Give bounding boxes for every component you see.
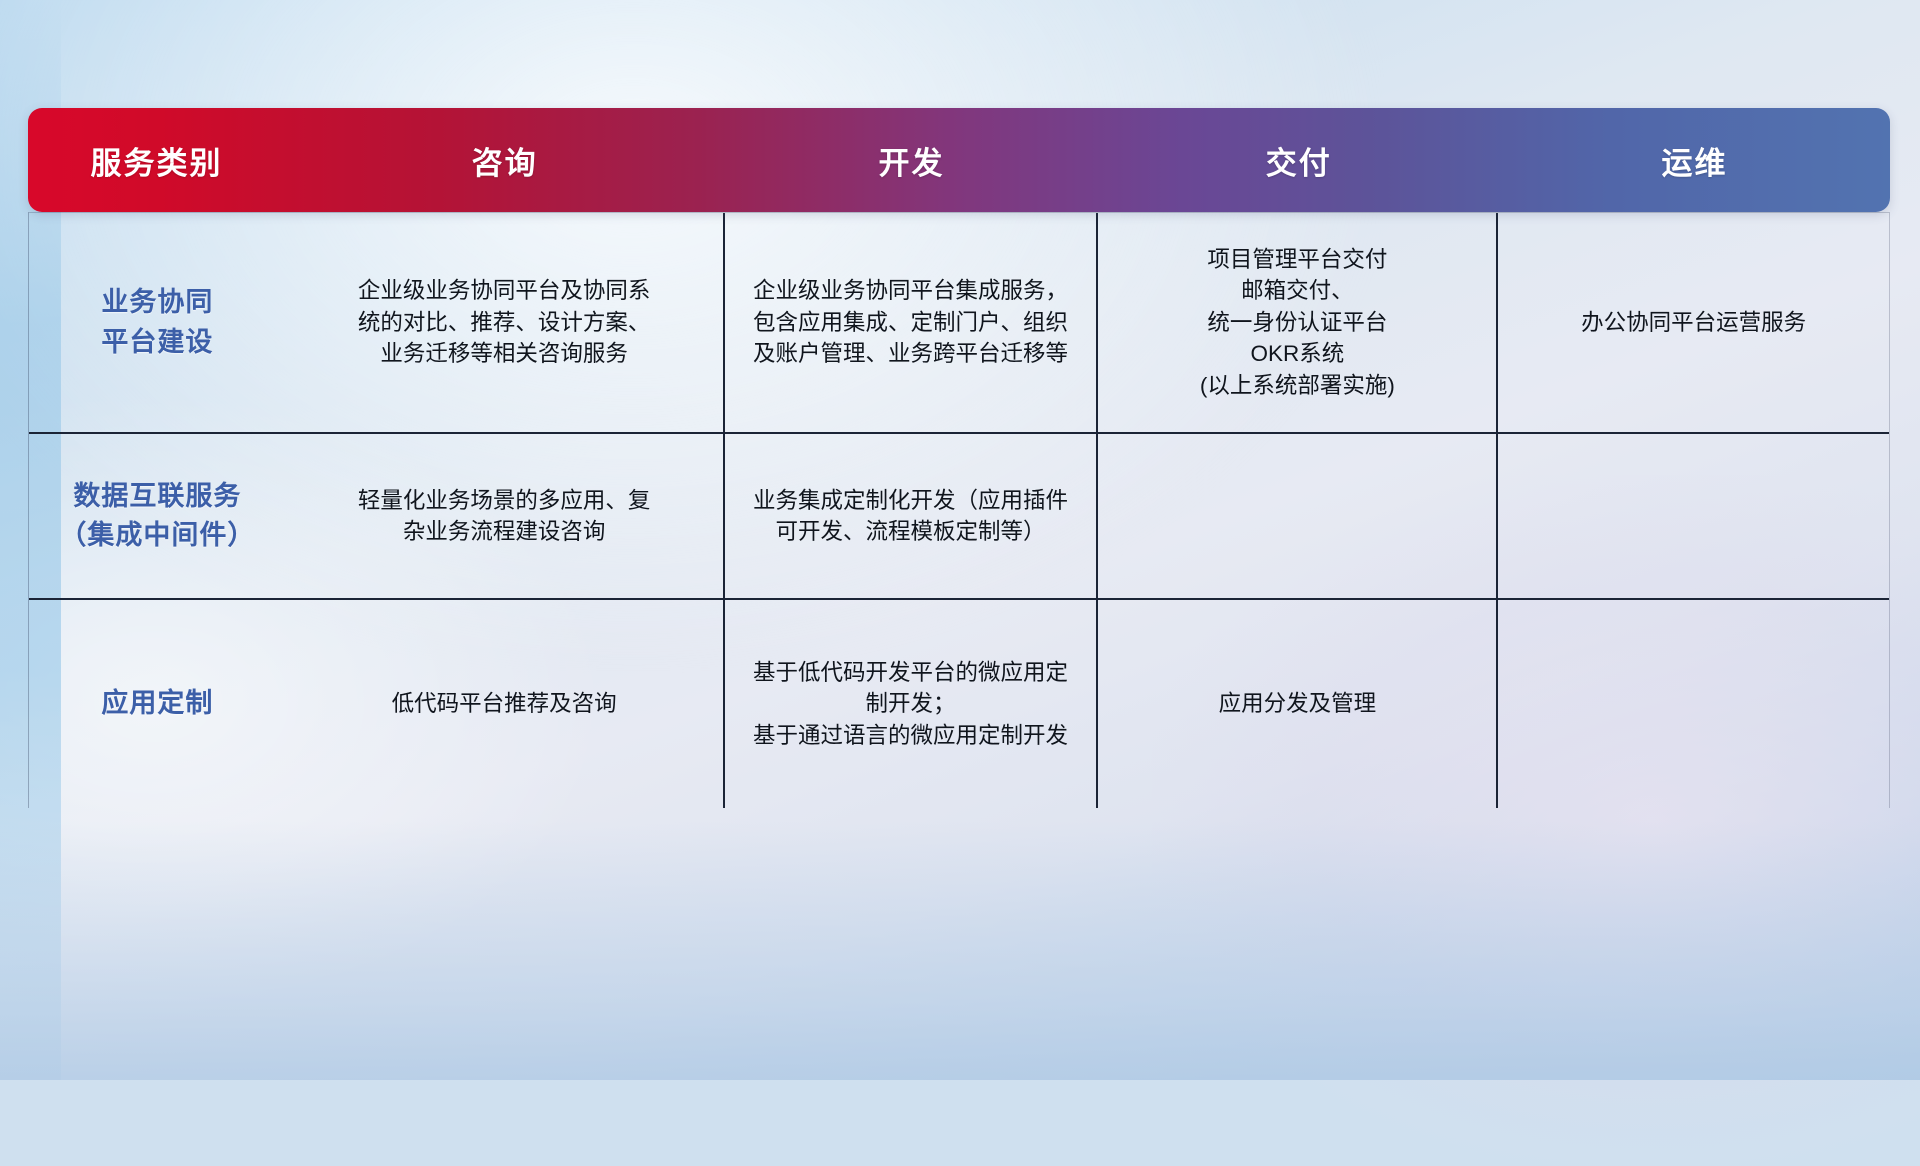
- table-body: 业务协同 平台建设 企业级业务协同平台及协同系 统的对比、推荐、设计方案、 业务…: [28, 212, 1890, 808]
- service-matrix-table: 服务类别 咨询 开发 交付 运维 业务协同 平台建设 企业级业务协同平台及协同系…: [28, 108, 1890, 808]
- cell-consulting: 低代码平台推荐及咨询: [286, 600, 725, 808]
- row-label: 业务协同 平台建设: [29, 213, 286, 432]
- cell-development: 基于低代码开发平台的微应用定 制开发； 基于通过语言的微应用定制开发: [725, 600, 1099, 808]
- cell-delivery: [1098, 434, 1498, 598]
- header-development: 开发: [724, 108, 1098, 212]
- cell-development: 企业级业务协同平台集成服务， 包含应用集成、定制门户、组织 及账户管理、业务跨平…: [725, 213, 1099, 432]
- cell-consulting: 企业级业务协同平台及协同系 统的对比、推荐、设计方案、 业务迁移等相关咨询服务: [286, 213, 725, 432]
- header-delivery: 交付: [1099, 108, 1499, 212]
- cell-development: 业务集成定制化开发（应用插件 可开发、流程模板定制等）: [725, 434, 1099, 598]
- cell-delivery: 项目管理平台交付 邮箱交付、 统一身份认证平台 OKR系统 (以上系统部署实施): [1098, 213, 1498, 432]
- background-bottom-tint: [0, 821, 1920, 1080]
- row-label: 数据互联服务 （集成中间件）: [29, 434, 286, 598]
- cell-delivery: 应用分发及管理: [1098, 600, 1498, 808]
- table-row: 业务协同 平台建设 企业级业务协同平台及协同系 统的对比、推荐、设计方案、 业务…: [29, 212, 1889, 434]
- cell-consulting: 轻量化业务场景的多应用、复 杂业务流程建设咨询: [286, 434, 725, 598]
- header-service-category: 服务类别: [28, 108, 285, 212]
- table-row: 数据互联服务 （集成中间件） 轻量化业务场景的多应用、复 杂业务流程建设咨询 业…: [29, 434, 1889, 600]
- table-row: 应用定制 低代码平台推荐及咨询 基于低代码开发平台的微应用定 制开发； 基于通过…: [29, 600, 1889, 808]
- header-consulting: 咨询: [285, 108, 724, 212]
- table-header-row: 服务类别 咨询 开发 交付 运维: [28, 108, 1890, 212]
- cell-operations: [1498, 600, 1889, 808]
- cell-operations: 办公协同平台运营服务: [1498, 213, 1889, 432]
- cell-operations: [1498, 434, 1889, 598]
- header-operations: 运维: [1499, 108, 1890, 212]
- row-label: 应用定制: [29, 600, 286, 808]
